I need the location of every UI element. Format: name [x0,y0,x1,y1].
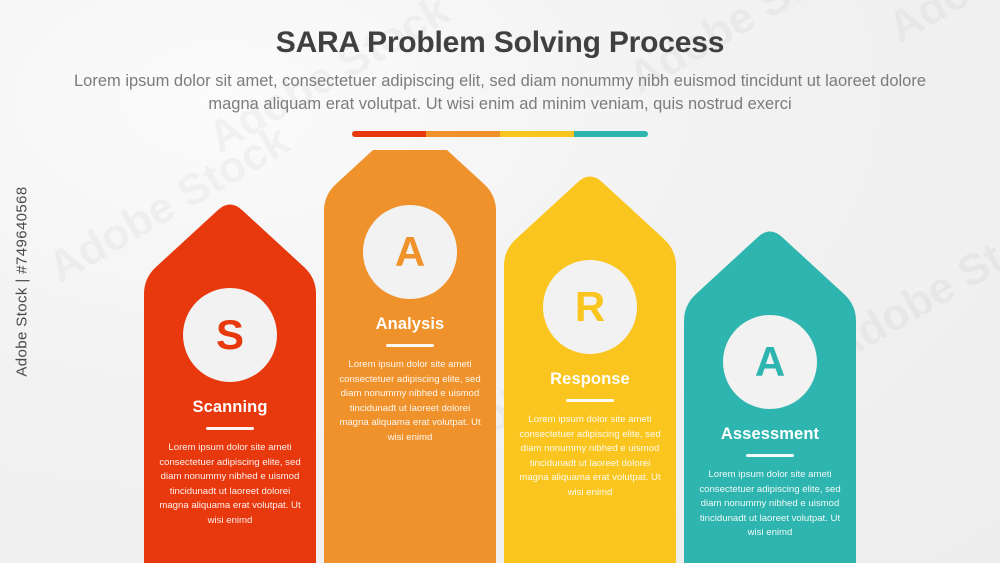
accent-bar-segment-1 [352,131,426,137]
accent-color-bar [352,131,648,137]
step-letter-badge: A [363,205,457,299]
page-subtitle: Lorem ipsum dolor sit amet, consectetuer… [70,60,930,116]
accent-bar-segment-4 [574,131,648,137]
process-step-assessment[interactable]: A Assessment Lorem ipsum dolor site amet… [680,150,860,563]
step-title: Assessment [721,425,819,444]
step-title: Scanning [192,398,267,417]
step-divider [206,427,254,430]
step-letter-badge: S [183,288,277,382]
step-letter-badge: A [723,315,817,409]
step-description: Lorem ipsum dolor site ameti consectetue… [334,358,486,445]
step-letter: A [395,231,425,273]
step-divider [566,399,614,402]
process-step-analysis[interactable]: A Analysis Lorem ipsum dolor site ameti … [320,150,500,563]
header: SARA Problem Solving Process Lorem ipsum… [0,0,1000,116]
step-letter-badge: R [543,260,637,354]
step-divider [386,344,434,347]
step-letter: A [755,341,785,383]
step-description: Lorem ipsum dolor site ameti consectetue… [694,468,846,541]
step-letter: S [216,314,244,356]
process-step-scanning[interactable]: S Scanning Lorem ipsum dolor site ameti … [140,150,320,563]
stock-credit-text: Adobe Stock | #749640568 [14,186,31,376]
step-letter: R [575,286,605,328]
process-step-response[interactable]: R Response Lorem ipsum dolor site ameti … [500,150,680,563]
accent-bar-segment-3 [500,131,574,137]
process-steps: S Scanning Lorem ipsum dolor site ameti … [140,150,860,563]
step-title: Response [550,370,630,389]
accent-bar-segment-2 [426,131,500,137]
step-description: Lorem ipsum dolor site ameti consectetue… [514,413,666,500]
step-description: Lorem ipsum dolor site ameti consectetue… [154,441,306,528]
page-title: SARA Problem Solving Process [0,0,1000,60]
step-divider [746,454,794,457]
step-title: Analysis [376,315,445,334]
infographic-canvas: Adobe Stock Adobe Stock Adobe Stock Adob… [0,0,1000,563]
